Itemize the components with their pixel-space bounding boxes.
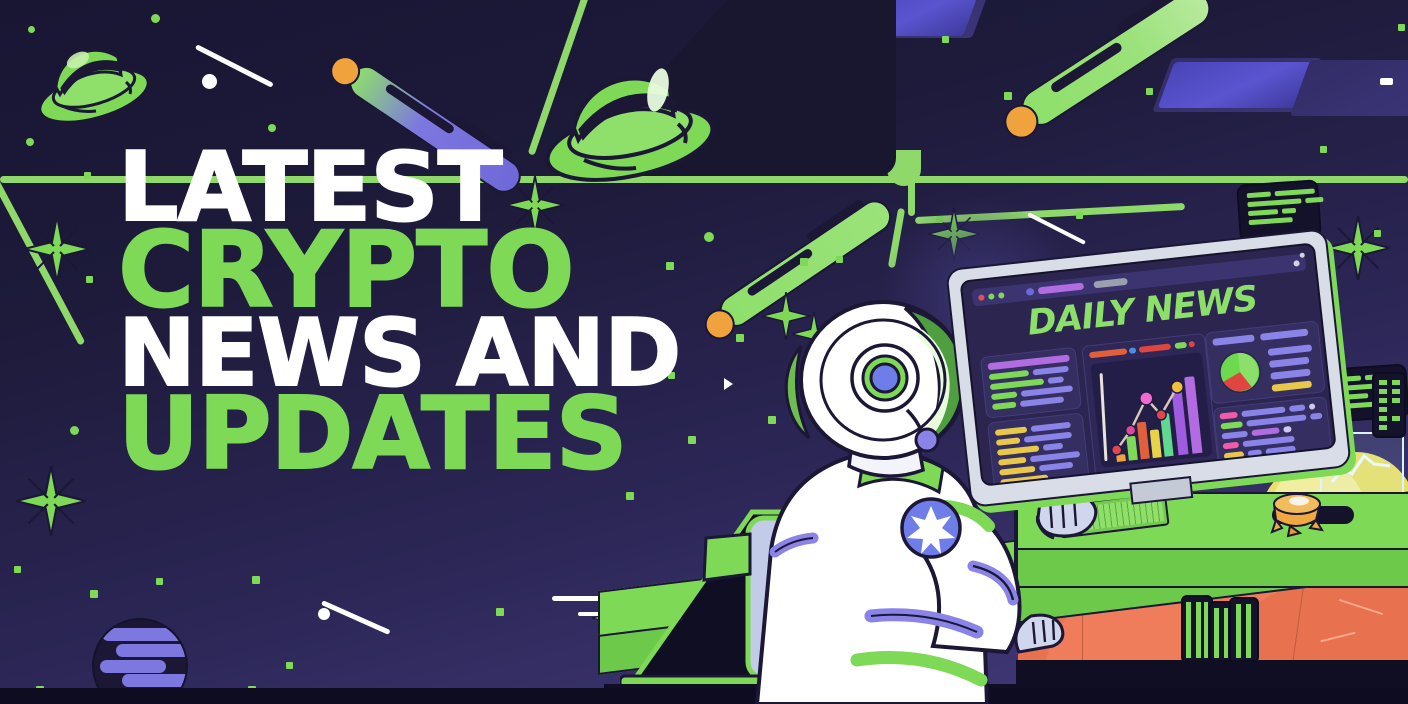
monitor-screen[interactable]: DAILY NEWS	[959, 242, 1336, 486]
shooting-star-head-lower-left	[318, 608, 330, 620]
triangle-particle	[724, 378, 733, 390]
foreground-floor	[0, 688, 1408, 704]
dashboard-chart-card	[1081, 333, 1219, 482]
shooting-star-head-upper-left	[202, 74, 217, 89]
headline-line-4: UPDATES	[118, 390, 680, 479]
browser-menu-dot[interactable]	[1293, 260, 1300, 267]
browser-pill-1[interactable]	[1026, 288, 1035, 296]
sparkle-star-left-lower	[16, 466, 86, 541]
browser-dot-3[interactable]	[998, 292, 1005, 299]
server-cylinders	[1180, 588, 1260, 671]
dashboard-left-lower-card	[987, 412, 1090, 486]
browser-pill-3[interactable]	[1093, 278, 1128, 289]
ufo-top-left	[28, 26, 158, 141]
pie-chart	[1214, 346, 1267, 404]
browser-dot-1[interactable]	[978, 294, 985, 301]
sparkle-star-left-upper	[24, 216, 90, 287]
gold-coin-stack[interactable]	[1266, 484, 1328, 545]
dashboard-left-upper-card	[980, 347, 1082, 419]
browser-pill-2[interactable]	[1038, 283, 1084, 295]
poster-canvas: LATEST CRYPTO NEWS AND UPDATES	[0, 0, 1408, 704]
monitor[interactable]: DAILY NEWS	[945, 228, 1352, 508]
equalizer-panel	[1372, 372, 1406, 438]
page-title: LATEST CRYPTO NEWS AND UPDATES	[118, 146, 680, 479]
browser-dot-2[interactable]	[988, 293, 995, 300]
chart-plot-area	[1090, 352, 1213, 467]
dashboard-pie-card	[1205, 320, 1326, 404]
sparkle-star-right	[1326, 216, 1390, 285]
